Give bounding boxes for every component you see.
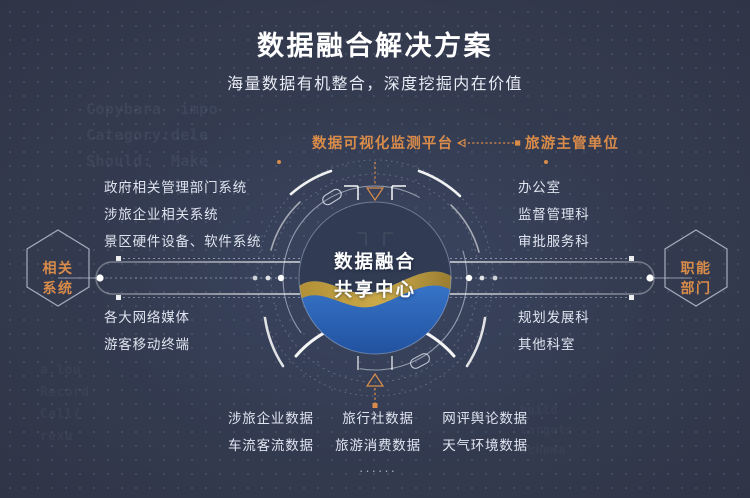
list-item: 各大网络媒体 xyxy=(104,304,190,331)
list-item: 监督管理科 xyxy=(518,201,590,228)
table-row: 涉旅企业数据 旅行社数据 网评舆论数据 xyxy=(228,405,528,432)
bottom-data-grid: 涉旅企业数据 旅行社数据 网评舆论数据 车流客流数据 旅游消费数据 天气环境数据… xyxy=(228,405,528,478)
data-cell: 网评舆论数据 xyxy=(442,405,528,432)
data-cell: 涉旅企业数据 xyxy=(228,405,314,432)
hexagon-right-line2: 部门 xyxy=(681,278,712,298)
data-cell: 车流客流数据 xyxy=(228,432,314,459)
core-label: 数据融合 共享中心 xyxy=(299,248,451,304)
infographic-canvas: Copybara impo Category:dele Should: Make… xyxy=(0,0,750,498)
list-item: 其他科室 xyxy=(518,331,590,358)
arrow-bottom-orange xyxy=(367,374,383,408)
list-item: 游客移动终端 xyxy=(104,331,190,358)
ellipsis-more: ······ xyxy=(228,463,528,478)
hexagon-left-line1: 相关 xyxy=(43,258,74,278)
hexagon-related-systems[interactable]: 相关 系统 xyxy=(12,228,104,328)
hexagon-left-line2: 系统 xyxy=(43,278,74,298)
list-item: 政府相关管理部门系统 xyxy=(104,174,261,201)
data-cell: 旅游消费数据 xyxy=(335,432,421,459)
list-item: 办公室 xyxy=(518,174,590,201)
hexagon-functional-departments[interactable]: 职能 部门 xyxy=(650,228,742,328)
list-item: 涉旅企业相关系统 xyxy=(104,201,261,228)
list-item: 审批服务科 xyxy=(518,228,590,255)
table-row: 车流客流数据 旅游消费数据 天气环境数据 xyxy=(228,432,528,459)
data-cell: 天气环境数据 xyxy=(442,432,528,459)
list-left-bottom: 各大网络媒体 游客移动终端 xyxy=(104,304,190,358)
list-right-bottom: 规划发展科 其他科室 xyxy=(518,304,590,358)
core-label-line1: 数据融合 xyxy=(299,248,451,276)
list-right-top: 办公室 监督管理科 审批服务科 xyxy=(518,174,590,255)
data-cell: 旅行社数据 xyxy=(342,405,414,432)
list-item: 景区硬件设备、软件系统 xyxy=(104,228,261,255)
core-label-line2: 共享中心 xyxy=(299,276,451,304)
hexagon-right-line1: 职能 xyxy=(681,258,712,278)
arrow-top-orange xyxy=(367,162,383,200)
list-left-top: 政府相关管理部门系统 涉旅企业相关系统 景区硬件设备、软件系统 xyxy=(104,174,261,255)
list-item: 规划发展科 xyxy=(518,304,590,331)
